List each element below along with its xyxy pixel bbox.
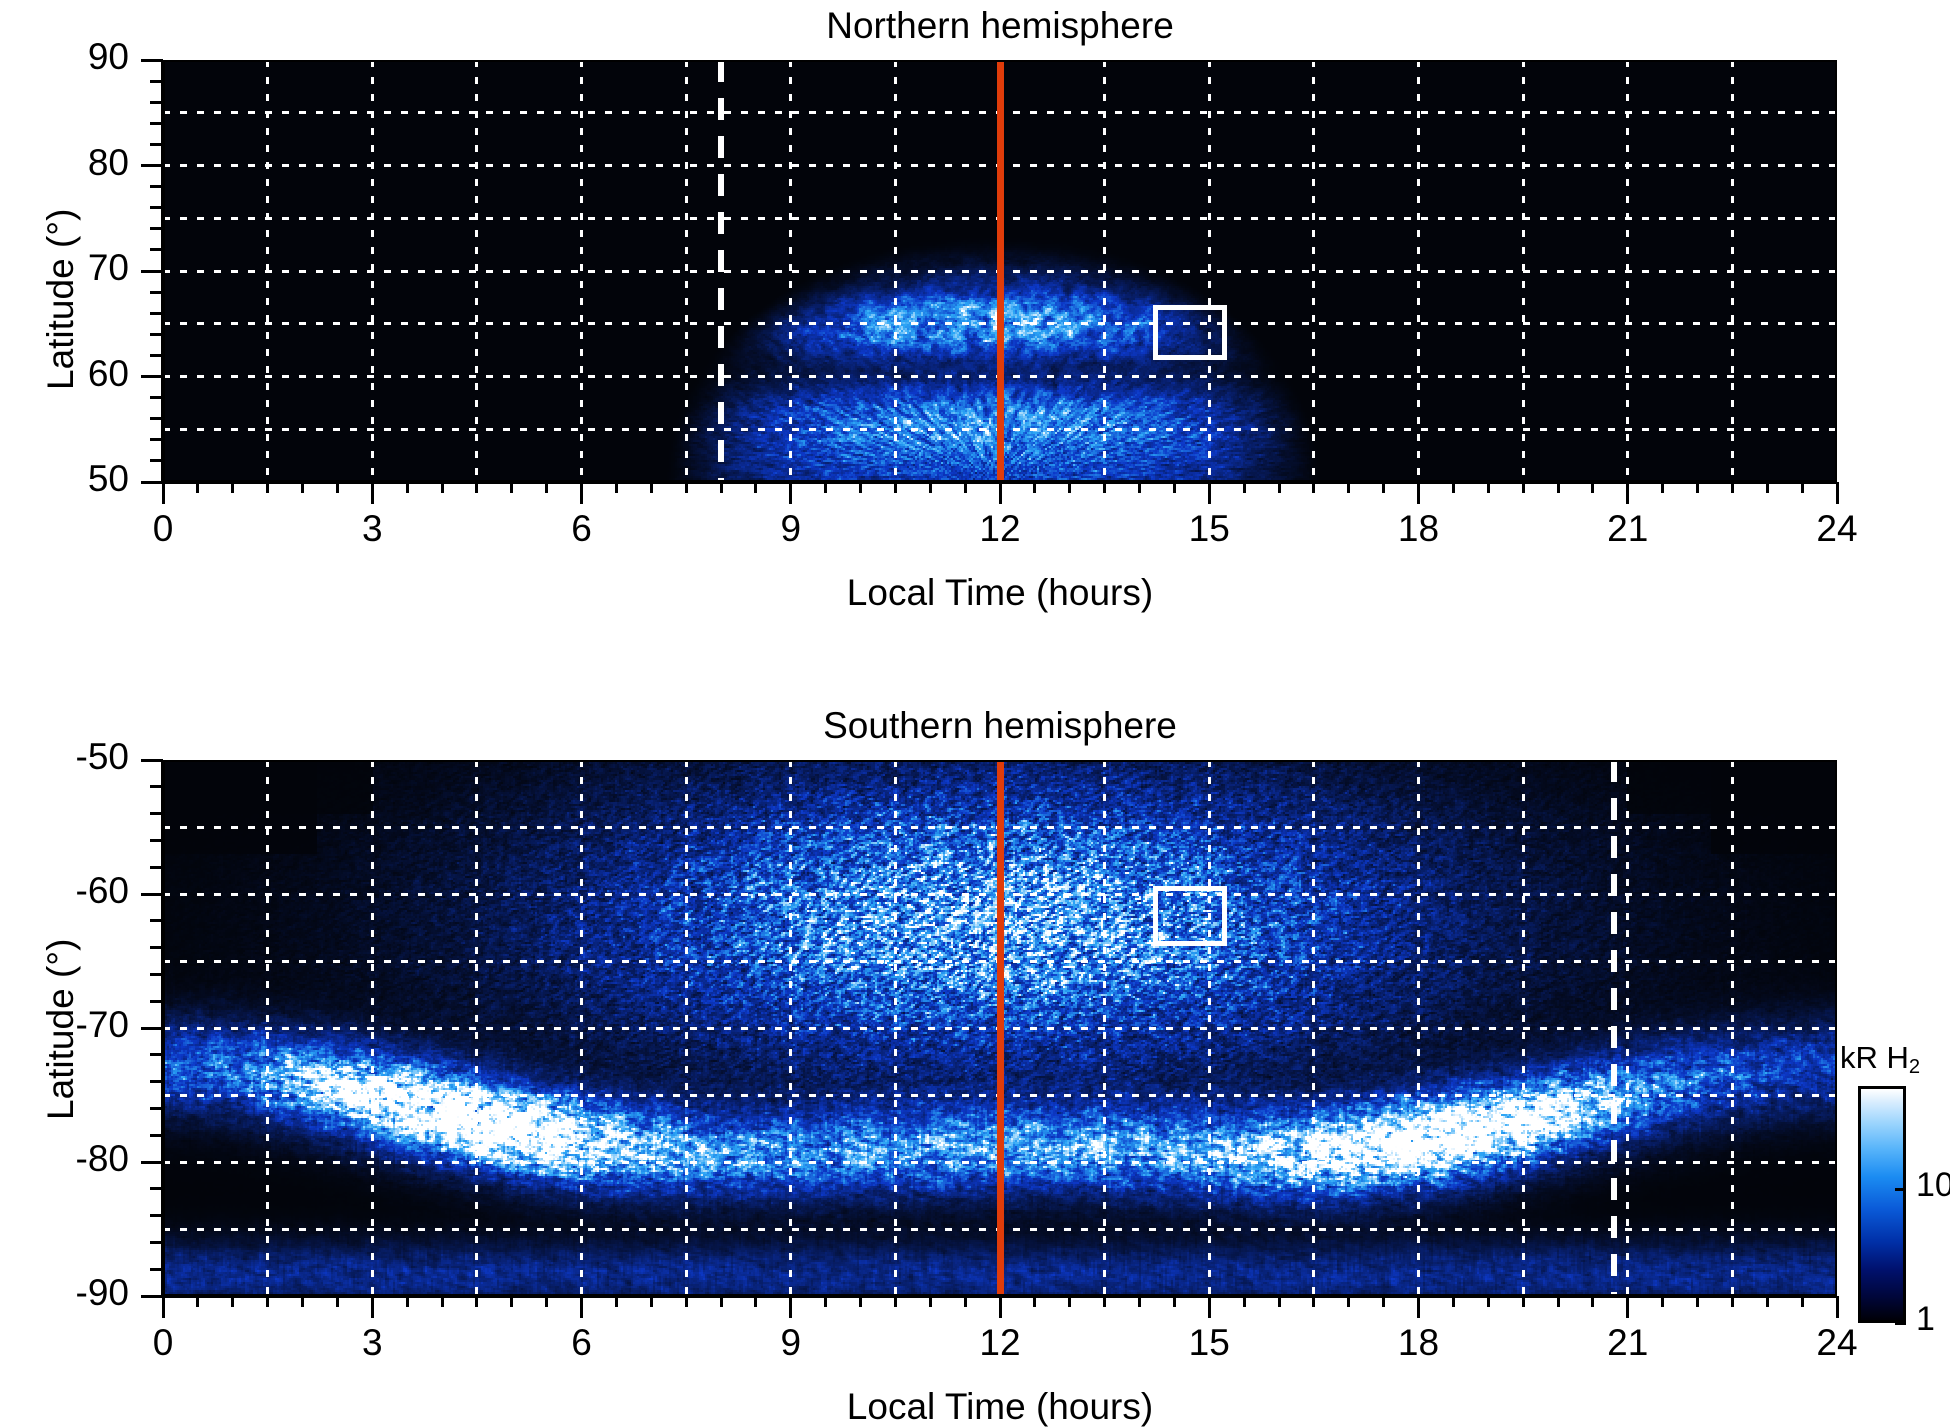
southern-noon-meridian-line xyxy=(997,760,1004,1296)
y-axis-tick-minor xyxy=(150,122,163,125)
y-axis-tick-minor xyxy=(150,812,163,815)
x-axis-tick-minor xyxy=(231,482,234,493)
x-axis-tick-minor xyxy=(720,482,723,493)
x-axis-tick-minor xyxy=(301,1296,304,1307)
x-axis-tick-minor xyxy=(1278,1296,1281,1307)
x-axis-tick-minor xyxy=(964,482,967,493)
y-axis-tick-minor xyxy=(150,333,163,336)
x-axis-tick-minor xyxy=(1068,482,1071,493)
x-axis-tick-label: 0 xyxy=(103,1322,223,1364)
x-axis-tick-minor xyxy=(545,482,548,493)
y-axis-tick-label: 90 xyxy=(0,36,129,78)
y-axis-tick-minor xyxy=(150,143,163,146)
y-axis-tick-major xyxy=(141,375,163,378)
y-axis-tick-minor xyxy=(150,459,163,462)
x-axis-tick-minor xyxy=(1312,482,1315,493)
x-axis-tick-label: 6 xyxy=(522,508,642,550)
x-axis-tick-minor xyxy=(615,1296,618,1307)
southern-terminator-line xyxy=(1611,760,1617,1296)
y-axis-tick-label: 50 xyxy=(0,458,129,500)
colorbar-title-prefix: kR H xyxy=(1840,1040,1909,1075)
y-axis-tick-label: -80 xyxy=(0,1138,129,1180)
x-axis-tick-major xyxy=(1626,1296,1629,1318)
y-axis-tick-label: -50 xyxy=(0,736,129,778)
x-axis-tick-minor xyxy=(1138,1296,1141,1307)
y-axis-tick-minor xyxy=(150,312,163,315)
x-axis-tick-label: 18 xyxy=(1359,1322,1479,1364)
y-axis-tick-major xyxy=(141,270,163,273)
y-axis-tick-minor xyxy=(150,1268,163,1271)
figure-root: Northern hemisphere 9080706050 036912151… xyxy=(0,0,1950,1423)
x-axis-tick-label: 15 xyxy=(1149,508,1269,550)
northern-noon-meridian-line xyxy=(997,60,1004,482)
x-axis-tick-minor xyxy=(1696,482,1699,493)
x-axis-tick-label: 9 xyxy=(731,1322,851,1364)
x-axis-tick-minor xyxy=(1731,1296,1734,1307)
x-axis-tick-minor xyxy=(510,1296,513,1307)
x-axis-tick-minor xyxy=(1347,482,1350,493)
x-axis-tick-label: 3 xyxy=(312,1322,432,1364)
x-axis-tick-minor xyxy=(685,482,688,493)
y-axis-tick-minor xyxy=(150,80,163,83)
y-axis-tick-minor xyxy=(150,1134,163,1137)
y-axis-tick-minor xyxy=(150,919,163,922)
southern-plot-area xyxy=(163,760,1837,1296)
x-axis-tick-minor xyxy=(685,1296,688,1307)
y-axis-tick-label: -60 xyxy=(0,870,129,912)
northern-y-axis-label: Latitude (°) xyxy=(40,209,82,390)
x-axis-tick-minor xyxy=(1557,1296,1560,1307)
colorbar-tick-mark xyxy=(1895,1322,1906,1325)
southern-x-axis-label: Local Time (hours) xyxy=(163,1386,1837,1428)
x-axis-tick-minor xyxy=(929,1296,932,1307)
y-axis-tick-major xyxy=(141,59,163,62)
x-axis-tick-minor xyxy=(824,1296,827,1307)
x-axis-tick-minor xyxy=(510,482,513,493)
x-axis-tick-minor xyxy=(1591,1296,1594,1307)
x-axis-tick-minor xyxy=(336,1296,339,1307)
x-axis-tick-minor xyxy=(1487,482,1490,493)
x-axis-tick-minor xyxy=(894,482,897,493)
x-axis-tick-minor xyxy=(1801,482,1804,493)
x-axis-tick-major xyxy=(789,1296,792,1318)
y-axis-tick-minor xyxy=(150,227,163,230)
southern-panel-title: Southern hemisphere xyxy=(163,705,1837,747)
x-axis-tick-minor xyxy=(1173,1296,1176,1307)
x-axis-tick-minor xyxy=(1487,1296,1490,1307)
x-axis-tick-major xyxy=(1208,482,1211,504)
y-axis-tick-minor xyxy=(150,1107,163,1110)
colorbar: kR H2 101 xyxy=(1840,1040,1950,1330)
x-axis-tick-minor xyxy=(929,482,932,493)
y-axis-tick-minor xyxy=(150,1080,163,1083)
x-axis-tick-minor xyxy=(406,482,409,493)
y-axis-tick-minor xyxy=(150,1214,163,1217)
x-axis-tick-minor xyxy=(720,1296,723,1307)
x-axis-tick-minor xyxy=(1103,1296,1106,1307)
x-axis-tick-minor xyxy=(1243,1296,1246,1307)
x-axis-tick-minor xyxy=(475,1296,478,1307)
northern-region-of-interest-box xyxy=(1153,305,1226,360)
y-axis-tick-minor xyxy=(150,101,163,104)
x-axis-tick-major xyxy=(371,482,374,504)
x-axis-tick-label: 15 xyxy=(1149,1322,1269,1364)
x-axis-tick-minor xyxy=(859,1296,862,1307)
y-axis-tick-major xyxy=(141,893,163,896)
y-axis-tick-minor xyxy=(150,839,163,842)
x-axis-tick-label: 21 xyxy=(1568,508,1688,550)
x-axis-tick-minor xyxy=(1033,1296,1036,1307)
x-axis-tick-major xyxy=(580,1296,583,1318)
y-axis-tick-minor xyxy=(150,291,163,294)
x-axis-tick-minor xyxy=(650,482,653,493)
x-axis-tick-major xyxy=(580,482,583,504)
x-axis-tick-minor xyxy=(301,482,304,493)
x-axis-tick-label: 12 xyxy=(940,1322,1060,1364)
x-axis-tick-minor xyxy=(1347,1296,1350,1307)
x-axis-tick-minor xyxy=(964,1296,967,1307)
x-axis-tick-major xyxy=(1417,482,1420,504)
colorbar-tick-label: 10 xyxy=(1916,1166,1950,1205)
y-axis-tick-label: 80 xyxy=(0,142,129,184)
x-axis-tick-minor xyxy=(1522,1296,1525,1307)
x-axis-tick-minor xyxy=(1382,1296,1385,1307)
colorbar-title-subscript: 2 xyxy=(1909,1056,1920,1078)
x-axis-tick-major xyxy=(1626,482,1629,504)
y-axis-tick-minor xyxy=(150,206,163,209)
northern-panel-title: Northern hemisphere xyxy=(163,5,1837,47)
y-axis-tick-minor xyxy=(150,785,163,788)
y-axis-tick-label: -90 xyxy=(0,1272,129,1314)
x-axis-tick-minor xyxy=(266,1296,269,1307)
x-axis-tick-minor xyxy=(754,1296,757,1307)
x-axis-tick-minor xyxy=(406,1296,409,1307)
x-axis-tick-minor xyxy=(475,482,478,493)
x-axis-tick-minor xyxy=(1522,482,1525,493)
x-axis-tick-label: 12 xyxy=(940,508,1060,550)
northern-plot-area xyxy=(163,60,1837,482)
x-axis-tick-major xyxy=(789,482,792,504)
x-axis-tick-label: 21 xyxy=(1568,1322,1688,1364)
y-axis-tick-major xyxy=(141,481,163,484)
x-axis-tick-minor xyxy=(196,482,199,493)
x-axis-tick-minor xyxy=(1696,1296,1699,1307)
y-axis-tick-minor xyxy=(150,354,163,357)
colorbar-tick-label: 1 xyxy=(1916,1300,1935,1339)
x-axis-tick-minor xyxy=(266,482,269,493)
x-axis-tick-minor xyxy=(1766,482,1769,493)
x-axis-tick-major xyxy=(999,482,1002,504)
y-axis-tick-major xyxy=(141,164,163,167)
colorbar-gradient xyxy=(1858,1086,1906,1323)
x-axis-tick-minor xyxy=(231,1296,234,1307)
y-axis-tick-minor xyxy=(150,866,163,869)
x-axis-tick-label: 9 xyxy=(731,508,851,550)
x-axis-tick-minor xyxy=(859,482,862,493)
y-axis-tick-major xyxy=(141,1161,163,1164)
colorbar-tick-mark xyxy=(1895,1188,1906,1191)
x-axis-tick-minor xyxy=(441,1296,444,1307)
x-axis-tick-minor xyxy=(1766,1296,1769,1307)
x-axis-tick-major xyxy=(999,1296,1002,1318)
x-axis-tick-major xyxy=(1417,1296,1420,1318)
y-axis-tick-minor xyxy=(150,1053,163,1056)
x-axis-tick-major xyxy=(1836,1296,1839,1318)
x-axis-tick-minor xyxy=(1243,482,1246,493)
x-axis-tick-label: 24 xyxy=(1777,508,1897,550)
y-axis-tick-major xyxy=(141,1027,163,1030)
y-axis-tick-major xyxy=(141,1295,163,1298)
y-axis-tick-minor xyxy=(150,438,163,441)
y-axis-tick-minor xyxy=(150,946,163,949)
x-axis-tick-minor xyxy=(894,1296,897,1307)
x-axis-tick-major xyxy=(371,1296,374,1318)
x-axis-tick-minor xyxy=(1103,482,1106,493)
x-axis-tick-minor xyxy=(650,1296,653,1307)
x-axis-tick-minor xyxy=(1452,1296,1455,1307)
x-axis-tick-minor xyxy=(1138,482,1141,493)
x-axis-tick-minor xyxy=(196,1296,199,1307)
x-axis-tick-minor xyxy=(336,482,339,493)
x-axis-tick-label: 6 xyxy=(522,1322,642,1364)
x-axis-tick-minor xyxy=(1278,482,1281,493)
y-axis-tick-minor xyxy=(150,396,163,399)
x-axis-tick-minor xyxy=(1661,1296,1664,1307)
northern-x-axis-label: Local Time (hours) xyxy=(163,572,1837,614)
x-axis-tick-minor xyxy=(545,1296,548,1307)
y-axis-tick-minor xyxy=(150,185,163,188)
x-axis-tick-minor xyxy=(1731,482,1734,493)
x-axis-tick-minor xyxy=(441,482,444,493)
x-axis-tick-minor xyxy=(1452,482,1455,493)
southern-y-axis-label: Latitude (°) xyxy=(40,939,82,1120)
x-axis-tick-major xyxy=(1208,1296,1211,1318)
y-axis-tick-minor xyxy=(150,1241,163,1244)
x-axis-tick-major xyxy=(1836,482,1839,504)
colorbar-title: kR H2 xyxy=(1840,1040,1920,1079)
northern-terminator-line xyxy=(718,60,724,482)
x-axis-tick-major xyxy=(162,482,165,504)
y-axis-tick-minor xyxy=(150,1000,163,1003)
y-axis-tick-major xyxy=(141,759,163,762)
x-axis-tick-minor xyxy=(1382,482,1385,493)
x-axis-tick-minor xyxy=(1661,482,1664,493)
southern-region-of-interest-box xyxy=(1153,886,1226,946)
x-axis-tick-major xyxy=(162,1296,165,1318)
x-axis-tick-minor xyxy=(1557,482,1560,493)
x-axis-tick-minor xyxy=(1801,1296,1804,1307)
x-axis-tick-minor xyxy=(1068,1296,1071,1307)
y-axis-tick-minor xyxy=(150,1187,163,1190)
x-axis-tick-label: 18 xyxy=(1359,508,1479,550)
x-axis-tick-minor xyxy=(754,482,757,493)
x-axis-tick-minor xyxy=(1173,482,1176,493)
x-axis-tick-label: 0 xyxy=(103,508,223,550)
x-axis-tick-minor xyxy=(1591,482,1594,493)
x-axis-tick-label: 3 xyxy=(312,508,432,550)
x-axis-tick-minor xyxy=(824,482,827,493)
x-axis-tick-minor xyxy=(615,482,618,493)
y-axis-tick-minor xyxy=(150,417,163,420)
y-axis-tick-minor xyxy=(150,248,163,251)
x-axis-tick-minor xyxy=(1033,482,1036,493)
y-axis-tick-minor xyxy=(150,973,163,976)
x-axis-tick-minor xyxy=(1312,1296,1315,1307)
